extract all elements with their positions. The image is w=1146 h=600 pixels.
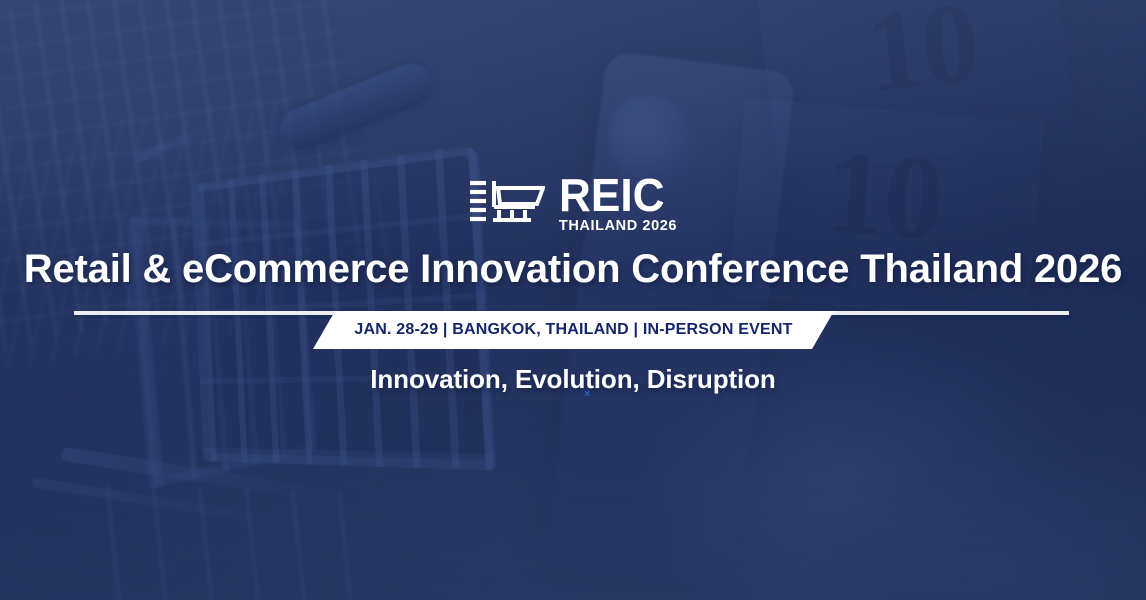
- event-hero-banner: 10 10: [0, 0, 1146, 600]
- event-tagline: Innovation, Evolution, Disruption: [0, 364, 1146, 395]
- shopping-cart-motion-icon: [469, 177, 545, 228]
- reic-logo: REIC THAILAND 2026: [0, 172, 1146, 234]
- banner-content: REIC THAILAND 2026 Retail & eCommerce In…: [0, 0, 1146, 600]
- event-details-text: JAN. 28-29 | BANGKOK, THAILAND | IN-PERS…: [354, 321, 792, 340]
- reic-logo-text: REIC THAILAND 2026: [559, 172, 677, 234]
- event-details-ribbon: JAN. 28-29 | BANGKOK, THAILAND | IN-PERS…: [313, 311, 834, 349]
- close-icon[interactable]: ×: [584, 389, 590, 400]
- reic-logo-name: REIC: [559, 172, 672, 218]
- reic-logo-subtitle: THAILAND 2026: [559, 219, 677, 234]
- page-title: Retail & eCommerce Innovation Conference…: [0, 247, 1146, 292]
